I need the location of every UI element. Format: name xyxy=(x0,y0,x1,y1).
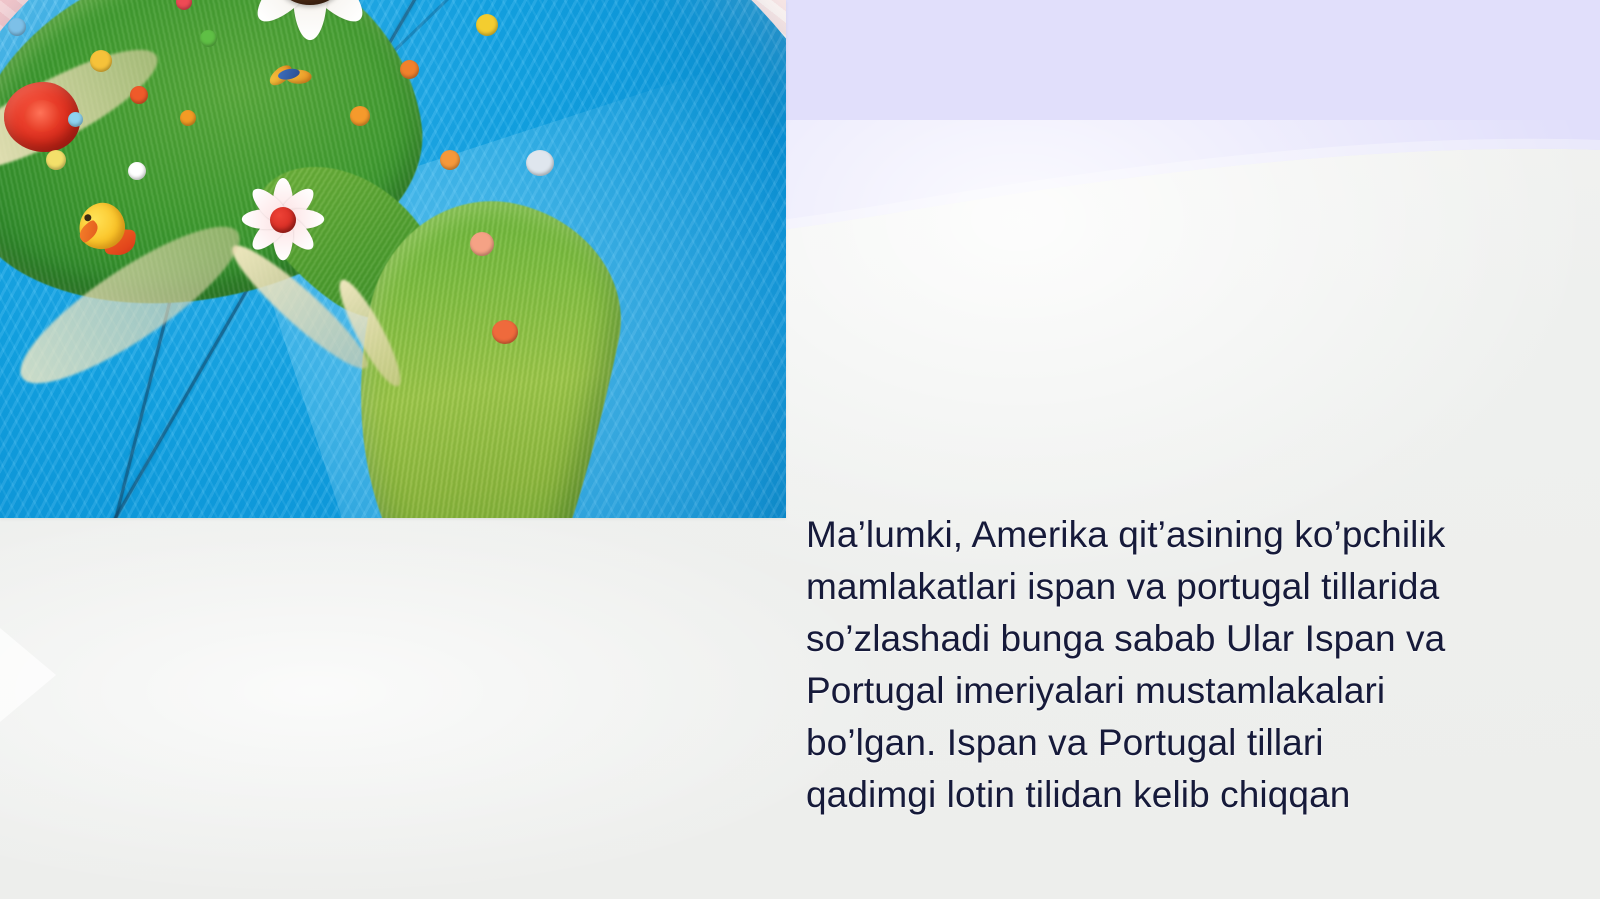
globe-photo[interactable] xyxy=(0,0,786,518)
daisy-petal xyxy=(293,0,327,40)
clay-dot xyxy=(492,320,518,344)
clay-dot xyxy=(470,232,494,256)
clay-dot xyxy=(400,60,419,79)
clay-dot xyxy=(8,18,26,36)
slide-canvas: Ma’lumki, Amerika qit’asining ko’pchilik… xyxy=(0,0,1600,899)
clay-dot xyxy=(90,50,112,72)
caption-line: bo’lgan. Ispan va Portugal tillari xyxy=(806,717,1566,769)
play-triangle-icon[interactable] xyxy=(0,626,56,724)
clay-dot xyxy=(46,150,66,170)
clay-dot xyxy=(68,112,83,127)
clay-globe xyxy=(0,0,786,518)
clay-dot xyxy=(440,150,460,170)
globe-photo-content xyxy=(0,0,786,518)
caption-line: qadimgi lotin tilidan kelib chiqqan xyxy=(806,769,1566,821)
clay-dot xyxy=(200,30,217,47)
clay-dot xyxy=(130,86,148,104)
clay-dot xyxy=(128,162,146,180)
caption-line: Portugal imeriyalari mustamlakalari xyxy=(806,665,1566,717)
clay-daisy-large xyxy=(230,0,390,50)
clay-dot xyxy=(350,106,370,126)
clay-dot xyxy=(476,14,498,36)
clay-flower-red xyxy=(418,0,502,4)
caption-line: so’zlashadi bunga sabab Ular Ispan va xyxy=(806,613,1566,665)
clay-daisy-small xyxy=(235,172,331,268)
caption-text-block: Ma’lumki, Amerika qit’asining ko’pchilik… xyxy=(806,509,1566,821)
clay-dot xyxy=(526,150,554,176)
clay-dot xyxy=(180,110,196,126)
caption-line: Ma’lumki, Amerika qit’asining ko’pchilik xyxy=(806,509,1566,561)
rose-inner xyxy=(24,100,60,132)
caption-line: mamlakatlari ispan va portugal tillarida xyxy=(806,561,1566,613)
daisy-center xyxy=(270,207,296,233)
